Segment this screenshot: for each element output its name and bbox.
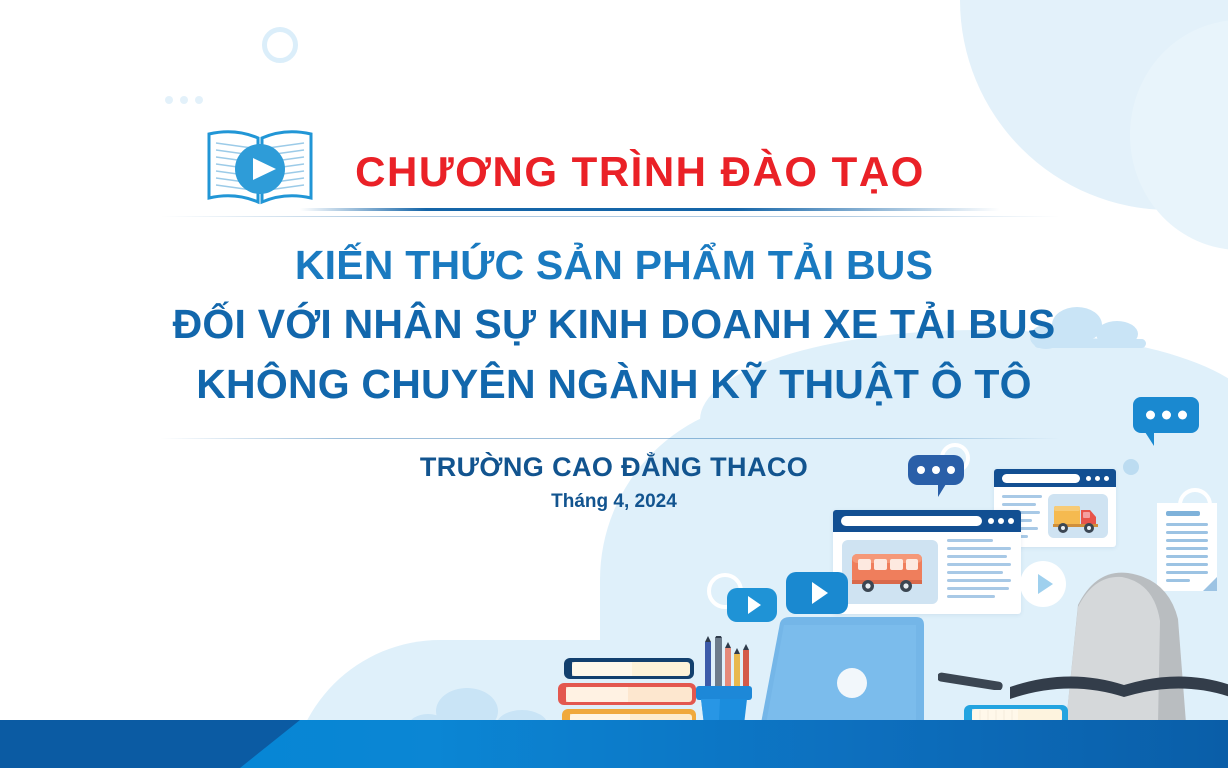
yellow-truck-icon [1048, 494, 1108, 538]
bus-thumbnail [842, 540, 938, 604]
title-line-1: KIẾN THỨC SẢN PHẨM TẢI BUS [64, 236, 1164, 295]
bottom-accent-bar [0, 720, 1228, 768]
eyebrow-heading: CHƯƠNG TRÌNH ĐÀO TẠO [330, 150, 950, 194]
browser-window-icon [833, 510, 1021, 532]
browser-card-bus[interactable] [833, 510, 1021, 614]
office-chair-icon [1008, 563, 1228, 723]
play-button-rounded-rect[interactable] [786, 572, 848, 614]
heading-divider-soft [160, 216, 1060, 217]
main-title: KIẾN THỨC SẢN PHẨM TẢI BUS ĐỐI VỚI NHÂN … [64, 236, 1164, 414]
play-icon [812, 582, 828, 604]
title-line-2: ĐỐI VỚI NHÂN SỰ KINH DOANH XE TẢI BUS [64, 295, 1164, 354]
orange-bus-icon [842, 540, 938, 604]
heading-divider [300, 208, 1000, 211]
title-line-3: KHÔNG CHUYÊN NGÀNH KỸ THUẬT Ô TÔ [64, 355, 1164, 414]
chat-bubble-large-icon [1133, 397, 1199, 433]
browser-window-icon [994, 469, 1116, 487]
title-slide: CHƯƠNG TRÌNH ĐÀO TẠO KIẾN THỨC SẢN PHẨM … [0, 0, 1228, 768]
eyebrow-heading-row: CHƯƠNG TRÌNH ĐÀO TẠO [330, 150, 950, 194]
play-icon [748, 596, 761, 614]
chat-bubble-small-icon [908, 455, 964, 485]
footer-divider [160, 438, 1060, 439]
card-text-lines [947, 539, 1011, 603]
laptop-cable [938, 664, 1008, 690]
truck-thumbnail [1048, 494, 1108, 538]
